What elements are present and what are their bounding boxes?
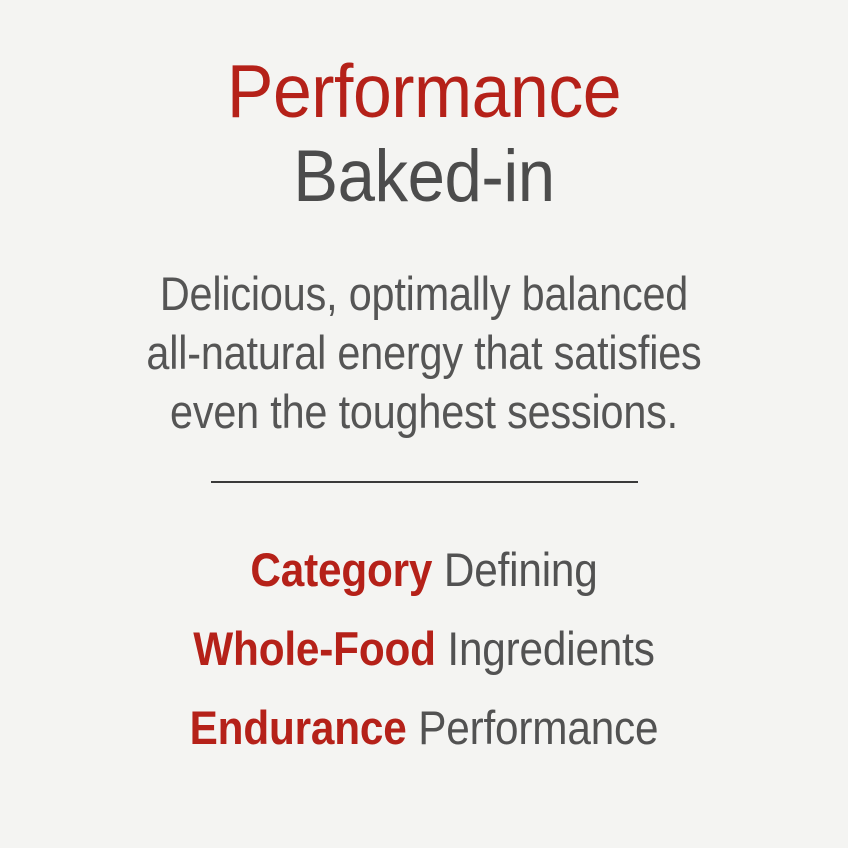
headline-secondary: Baked-in bbox=[34, 134, 814, 220]
body-paragraph: Delicious, optimally balanced all-natura… bbox=[0, 264, 848, 441]
feature-rest-label: Ingredients bbox=[447, 622, 654, 675]
divider-container bbox=[0, 481, 848, 483]
feature-rest-label: Defining bbox=[444, 543, 598, 596]
feature-rest-label: Performance bbox=[418, 701, 658, 754]
horizontal-rule bbox=[211, 481, 638, 483]
feature-item-category: Category Defining bbox=[42, 530, 805, 609]
body-line-1: Delicious, optimally balanced bbox=[51, 264, 797, 323]
feature-accent-label: Endurance bbox=[190, 701, 407, 754]
feature-item-whole-food: Whole-Food Ingredients bbox=[42, 609, 805, 688]
marketing-poster: Performance Baked-in Delicious, optimall… bbox=[0, 0, 848, 848]
feature-accent-label: Whole-Food bbox=[193, 622, 436, 675]
body-line-2: all-natural energy that satisfies bbox=[51, 323, 797, 382]
body-line-3: even the toughest sessions. bbox=[51, 382, 797, 441]
feature-list: Category Defining Whole-Food Ingredients… bbox=[0, 530, 848, 767]
headline-block: Performance Baked-in bbox=[0, 48, 848, 220]
headline-primary: Performance bbox=[30, 48, 819, 134]
feature-item-endurance: Endurance Performance bbox=[42, 688, 805, 767]
feature-accent-label: Category bbox=[250, 543, 432, 596]
